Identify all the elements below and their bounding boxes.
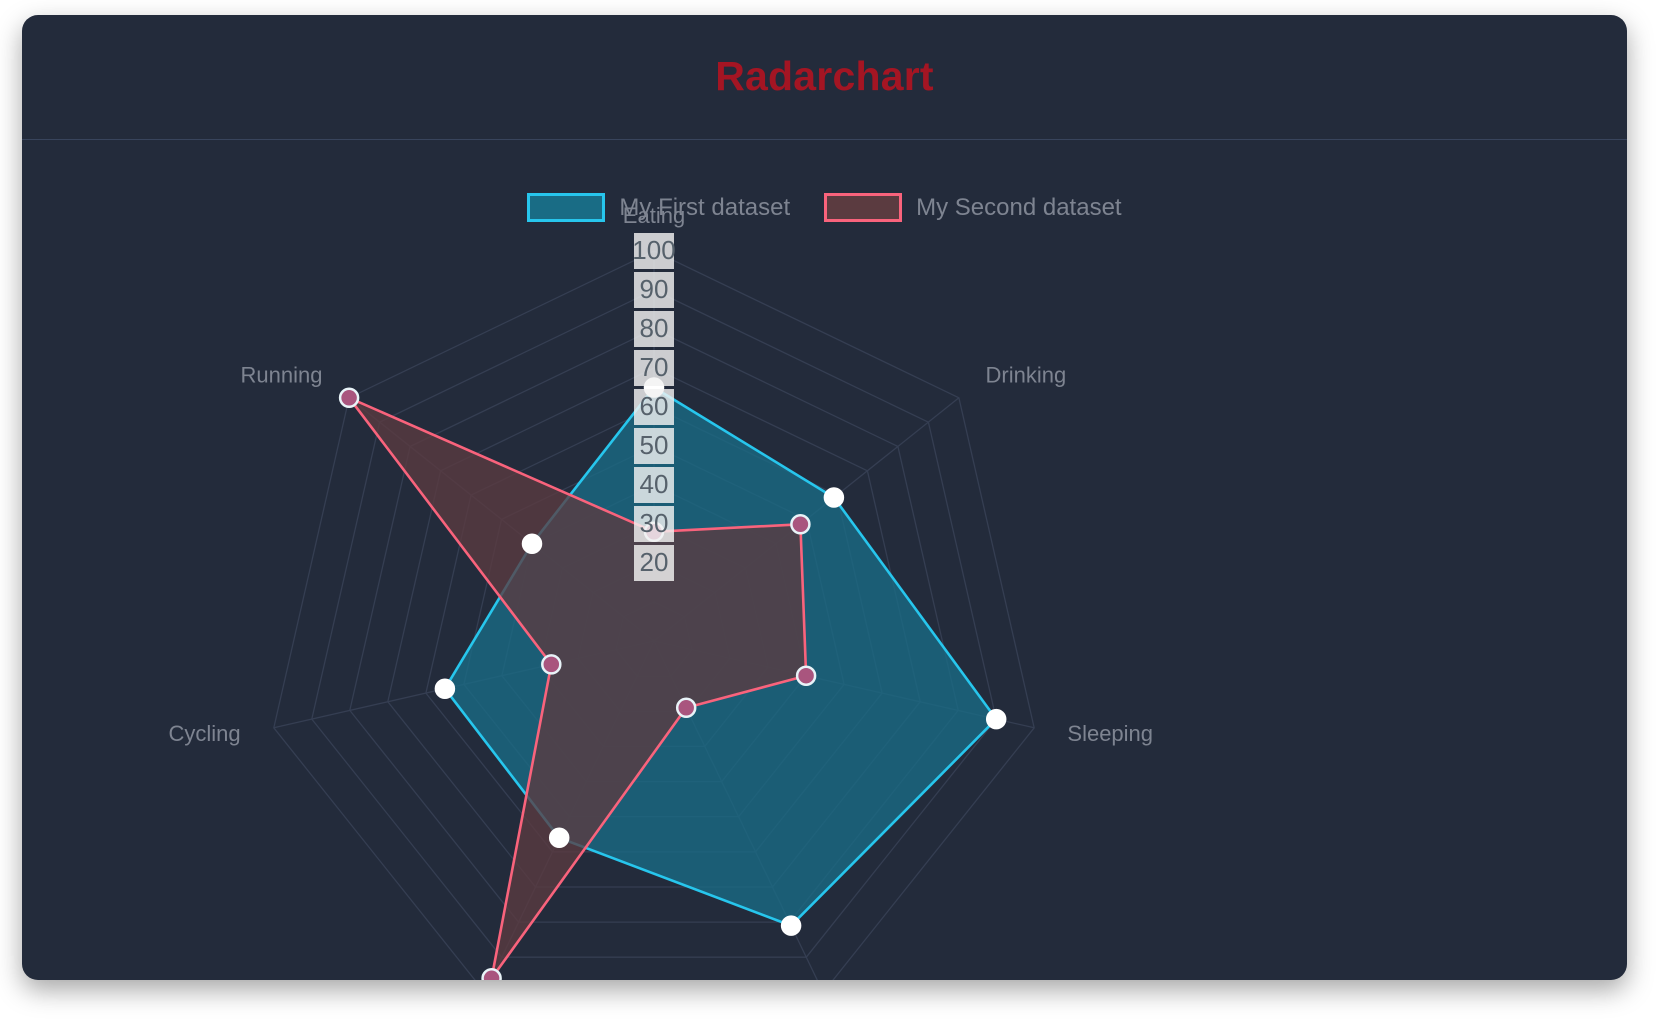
tick-label-40: 40 <box>640 469 669 499</box>
series-point[interactable] <box>791 515 809 533</box>
series-point[interactable] <box>677 699 695 717</box>
radar-tick-labels: 1009080706050403020 <box>632 233 675 581</box>
axis-label-sleeping: Sleeping <box>1067 721 1153 746</box>
series-point[interactable] <box>436 680 454 698</box>
axis-label-running: Running <box>241 362 323 387</box>
series-point[interactable] <box>523 535 541 553</box>
card-header: Radarchart <box>22 15 1627 140</box>
series-point[interactable] <box>483 969 501 980</box>
radar-chart[interactable]: EatingDrinkingSleepingDesigningCodingCyc… <box>22 141 1627 980</box>
series-point[interactable] <box>782 917 800 935</box>
tick-label-60: 60 <box>640 391 669 421</box>
series-point[interactable] <box>542 655 560 673</box>
series-point[interactable] <box>340 389 358 407</box>
series-point[interactable] <box>987 710 1005 728</box>
tick-label-80: 80 <box>640 313 669 343</box>
tick-label-20: 20 <box>640 547 669 577</box>
tick-label-70: 70 <box>640 352 669 382</box>
axis-label-eating: Eating <box>623 203 685 228</box>
axis-label-drinking: Drinking <box>986 362 1067 387</box>
axis-label-cycling: Cycling <box>168 721 240 746</box>
page-title: Radarchart <box>22 53 1627 100</box>
tick-label-30: 30 <box>640 508 669 538</box>
tick-label-90: 90 <box>640 274 669 304</box>
page-root: Radarchart My First dataset My Second da… <box>0 0 1656 1020</box>
tick-label-100: 100 <box>632 235 675 265</box>
card-body: My First dataset My Second dataset Eatin… <box>22 141 1627 980</box>
radar-chart-svg: EatingDrinkingSleepingDesigningCodingCyc… <box>22 141 1627 980</box>
series-point[interactable] <box>797 667 815 685</box>
tick-label-50: 50 <box>640 430 669 460</box>
series-point[interactable] <box>550 829 568 847</box>
chart-card: Radarchart My First dataset My Second da… <box>22 15 1627 980</box>
series-point[interactable] <box>825 489 843 507</box>
